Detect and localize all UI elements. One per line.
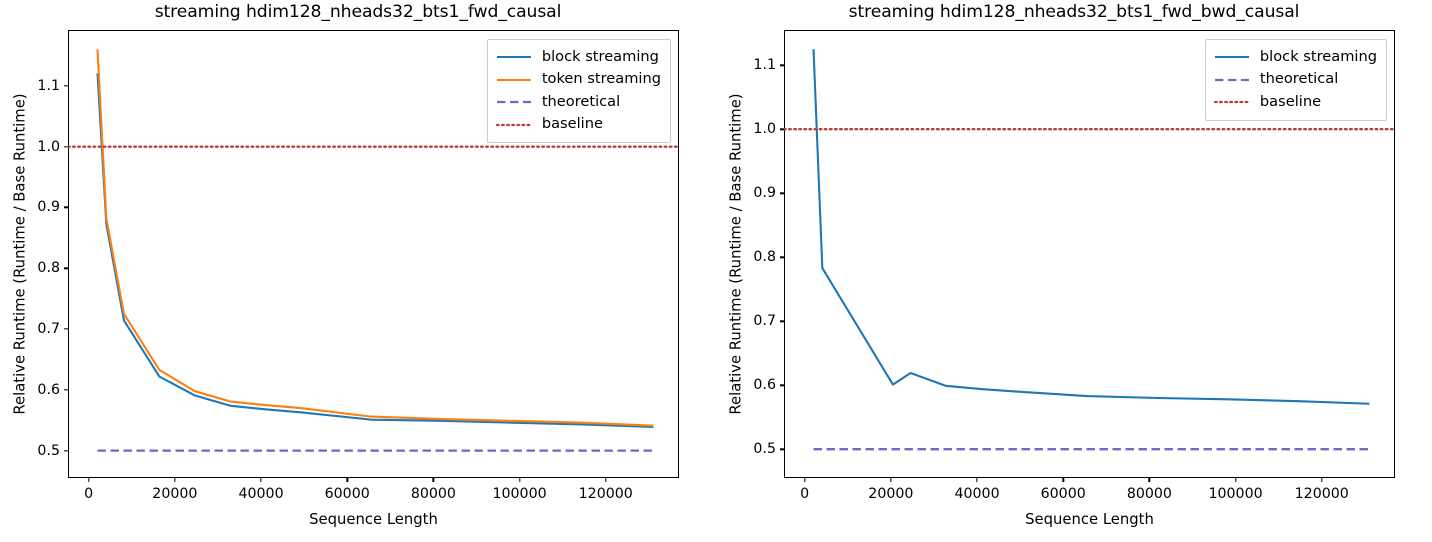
y-tick-mark — [780, 449, 784, 450]
x-axis-label-left: Sequence Length — [309, 511, 438, 528]
legend-label: block streaming — [542, 50, 659, 65]
x-tick-mark — [976, 478, 977, 482]
y-axis-label-right: Relative Runtime (Runtime / Base Runtime… — [728, 93, 745, 414]
y-tick-label: 0.5 — [37, 443, 60, 459]
x-tick-mark — [433, 478, 434, 482]
x-axis-label-right: Sequence Length — [1025, 511, 1154, 528]
legend-item[interactable]: block streaming — [1214, 46, 1377, 69]
x-tick-label: 0 — [800, 486, 809, 502]
y-tick-mark — [64, 146, 68, 147]
legend-left[interactable]: block streamingtoken streamingtheoretica… — [487, 39, 671, 143]
y-tick-mark — [64, 450, 68, 451]
legend-label: token streaming — [542, 72, 661, 87]
x-tick-label: 80000 — [411, 486, 456, 502]
chart-panel-right: streaming hdim128_nheads32_bts1_fwd_bwd_… — [716, 0, 1432, 542]
x-tick-label: 40000 — [238, 486, 283, 502]
legend-item[interactable]: theoretical — [496, 91, 661, 114]
legend-item[interactable]: baseline — [496, 114, 661, 137]
legend-item[interactable]: block streaming — [496, 46, 661, 69]
legend-swatch-dotted-icon — [1214, 95, 1250, 109]
y-tick-mark — [64, 268, 68, 269]
y-tick-label: 0.8 — [37, 260, 60, 276]
y-tick-mark — [780, 385, 784, 386]
legend-label: baseline — [542, 117, 603, 132]
x-tick-label: 20000 — [868, 486, 913, 502]
legend-swatch-dotted-icon — [496, 118, 532, 132]
x-tick-label: 60000 — [325, 486, 370, 502]
y-tick-mark — [780, 257, 784, 258]
x-tick-mark — [519, 478, 520, 482]
x-tick-label: 20000 — [152, 486, 197, 502]
legend-right[interactable]: block streamingtheoreticalbaseline — [1205, 39, 1387, 121]
y-tick-mark — [780, 129, 784, 130]
y-tick-label: 1.0 — [37, 139, 60, 155]
x-tick-mark — [890, 478, 891, 482]
legend-swatch-solid-icon — [496, 73, 532, 87]
y-tick-label: 0.7 — [37, 321, 60, 337]
x-tick-label: 80000 — [1127, 486, 1172, 502]
figure-canvas: streaming hdim128_nheads32_bts1_fwd_caus… — [0, 0, 1432, 542]
legend-item[interactable]: baseline — [1214, 91, 1377, 114]
y-tick-label: 0.5 — [753, 441, 776, 457]
x-tick-mark — [174, 478, 175, 482]
x-tick-label: 40000 — [954, 486, 999, 502]
x-tick-mark — [260, 478, 261, 482]
legend-swatch-dashed-icon — [496, 95, 532, 109]
x-tick-mark — [88, 478, 89, 482]
y-tick-label: 0.6 — [753, 377, 776, 393]
y-tick-label: 1.1 — [753, 57, 776, 73]
y-axis-label-left: Relative Runtime (Runtime / Base Runtime… — [12, 93, 29, 414]
x-tick-label: 120000 — [1295, 486, 1349, 502]
y-tick-mark — [780, 65, 784, 66]
legend-label: baseline — [1260, 95, 1321, 110]
x-tick-label: 120000 — [579, 486, 633, 502]
legend-swatch-solid-icon — [496, 50, 532, 64]
x-tick-mark — [605, 478, 606, 482]
y-tick-label: 1.0 — [753, 121, 776, 137]
legend-item[interactable]: token streaming — [496, 69, 661, 92]
y-tick-label: 0.7 — [753, 313, 776, 329]
y-tick-mark — [64, 389, 68, 390]
y-tick-mark — [780, 321, 784, 322]
y-tick-mark — [64, 207, 68, 208]
x-tick-label: 60000 — [1041, 486, 1086, 502]
legend-item[interactable]: theoretical — [1214, 69, 1377, 92]
x-tick-mark — [1149, 478, 1150, 482]
legend-swatch-solid-icon — [1214, 50, 1250, 64]
chart-panel-left: streaming hdim128_nheads32_bts1_fwd_caus… — [0, 0, 716, 542]
x-tick-mark — [1063, 478, 1064, 482]
x-tick-mark — [347, 478, 348, 482]
y-tick-label: 0.9 — [753, 185, 776, 201]
x-tick-mark — [1235, 478, 1236, 482]
x-tick-mark — [1321, 478, 1322, 482]
x-tick-label: 100000 — [492, 486, 546, 502]
y-tick-label: 0.8 — [753, 249, 776, 265]
legend-label: theoretical — [1260, 72, 1338, 87]
legend-swatch-dashed-icon — [1214, 73, 1250, 87]
x-tick-label: 100000 — [1208, 486, 1262, 502]
y-tick-mark — [64, 328, 68, 329]
y-tick-label: 0.6 — [37, 382, 60, 398]
y-tick-label: 0.9 — [37, 199, 60, 215]
x-tick-label: 0 — [84, 486, 93, 502]
legend-label: theoretical — [542, 95, 620, 110]
y-tick-label: 1.1 — [37, 78, 60, 94]
legend-label: block streaming — [1260, 50, 1377, 65]
y-tick-mark — [64, 85, 68, 86]
y-tick-mark — [780, 193, 784, 194]
x-tick-mark — [804, 478, 805, 482]
